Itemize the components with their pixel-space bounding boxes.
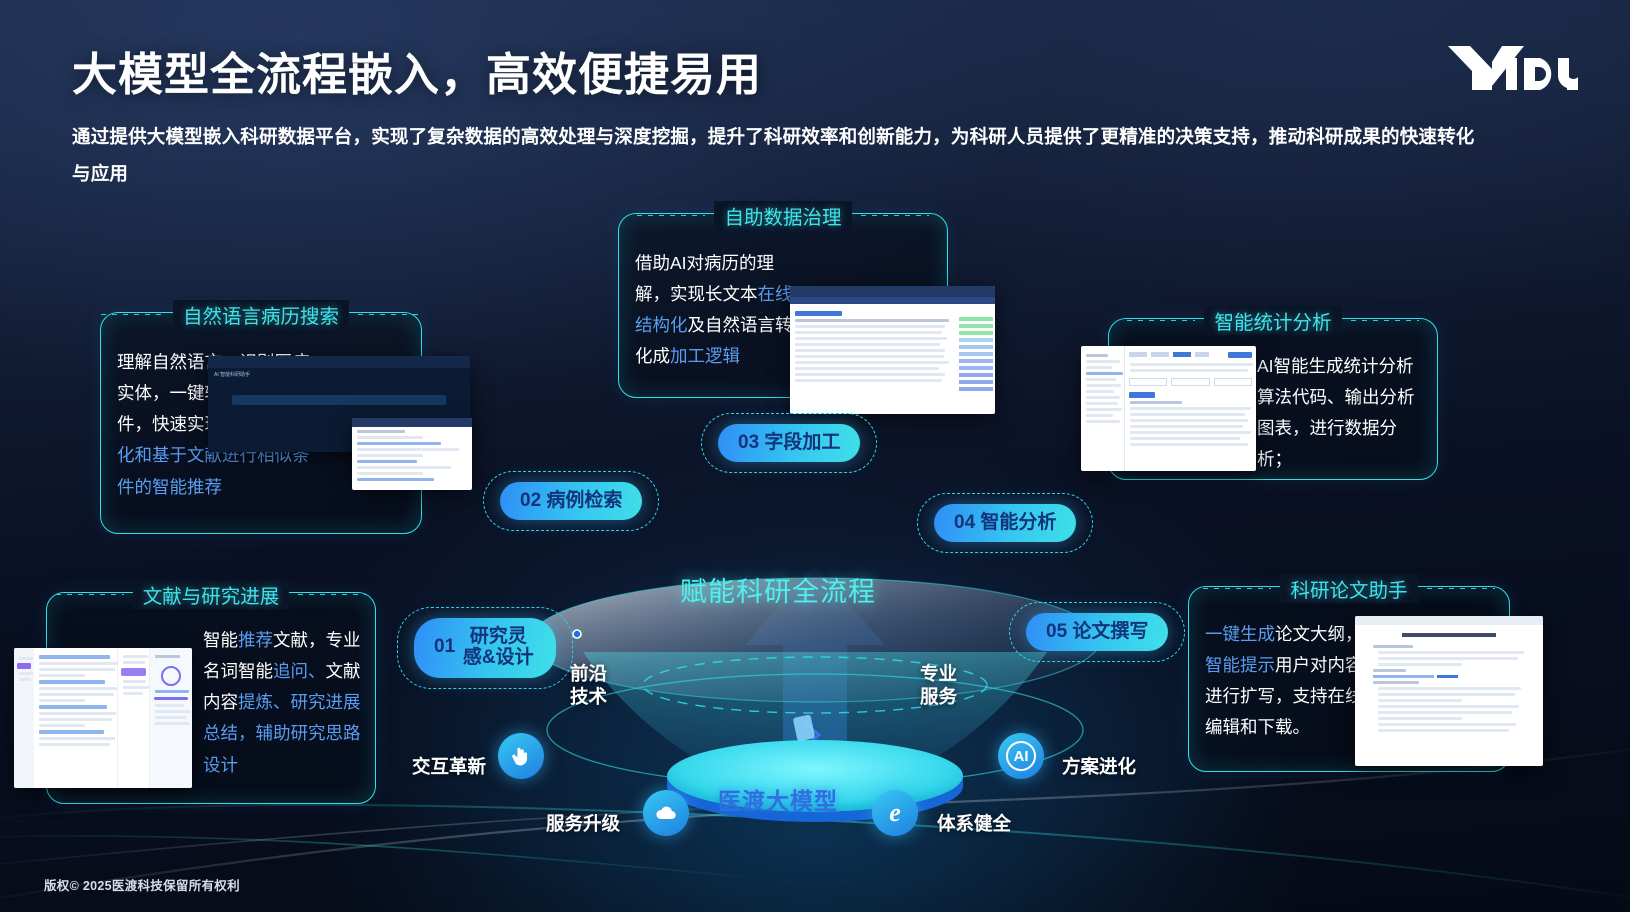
- page-title: 大模型全流程嵌入，高效便捷易用: [72, 38, 762, 103]
- card-data-governance-title-row: 自助数据治理: [619, 201, 947, 230]
- card-nl-search-title-row: 自然语言病历搜索: [101, 300, 421, 329]
- dash-left: [1127, 320, 1195, 321]
- cloud-icon: [643, 790, 689, 836]
- page-subtitle: 通过提供大模型嵌入科研数据平台，实现了复杂数据的高效处理与深度挖掘，提升了科研效…: [72, 118, 1492, 192]
- yidu-logo-icon: [1446, 42, 1578, 94]
- text-highlight-2: 追问、: [273, 661, 326, 681]
- card-nl-search-title: 自然语言病历搜索: [173, 300, 349, 329]
- step-pill-01-wrap: 01 研究灵感&设计: [414, 618, 556, 678]
- text-plain-1: 论文大纲，: [1275, 624, 1363, 644]
- card-literature-title-row: 文献与研究进展: [47, 580, 375, 609]
- dash-right: [1351, 320, 1419, 321]
- orbit-label-service-upgrade: 服务升级: [546, 812, 620, 835]
- screenshot-caption: AI 智能科研助手: [208, 368, 470, 381]
- pillar-service: 专业 服务: [920, 662, 957, 708]
- orbit-label-system-integrity: 体系健全: [937, 812, 1011, 835]
- browser-e-icon: e: [872, 790, 918, 836]
- funnel-label: 赋能科研全流程: [680, 570, 876, 609]
- screenshot-literature: [14, 648, 192, 788]
- step-num: 05: [1046, 622, 1067, 642]
- step-num: 04: [954, 513, 975, 533]
- step-label: 论文撰写: [1072, 622, 1148, 642]
- card-data-governance-body: 借助AI对病历的理解，实现长文本在线结构化及自然语言转化成加工逻辑: [635, 248, 803, 373]
- dash-right: [1427, 588, 1495, 589]
- browser-e-icon-text: e: [889, 798, 901, 828]
- text-highlight-1: 推荐: [238, 630, 273, 650]
- orbit-label-interaction: 交互革新: [412, 755, 486, 778]
- orbit-label-solution-evolution: 方案进化: [1062, 755, 1136, 778]
- step-label: 字段加工: [764, 433, 840, 453]
- screenshot-stat-analysis: [1081, 346, 1256, 471]
- yidu-logo: [1446, 40, 1578, 96]
- step-label: 研究灵感&设计: [460, 627, 536, 669]
- step-pill-05-wrap: 05 论文撰写: [1026, 613, 1168, 651]
- step-pill-04-wrap: 04 智能分析: [934, 504, 1076, 542]
- dash-left: [637, 215, 705, 216]
- dash-right: [298, 594, 366, 595]
- card-data-governance-title: 自助数据治理: [714, 201, 851, 230]
- screenshot-data-governance: [790, 286, 995, 414]
- step-num: 03: [738, 433, 759, 453]
- card-paper-assistant-body: 一键生成论文大纲，智能提示用户对内容进行扩写，支持在线编辑和下载。: [1205, 619, 1377, 744]
- card-paper-assistant-title-row: 科研论文助手: [1189, 574, 1509, 603]
- text-highlight-2: 智能提示: [1205, 655, 1275, 675]
- screenshot-nl-search-panel: [352, 418, 472, 490]
- hand-icon-glyph: [509, 744, 533, 768]
- card-paper-assistant-title: 科研论文助手: [1280, 574, 1417, 603]
- step-pill-02[interactable]: 02 病例检索: [500, 482, 642, 520]
- dash-left: [1203, 588, 1271, 589]
- text-highlight-2: 加工逻辑: [670, 346, 740, 366]
- dash-left: [56, 594, 124, 595]
- dash-right: [358, 314, 421, 315]
- step-pill-01[interactable]: 01 研究灵感&设计: [414, 618, 556, 678]
- step-num: 01: [434, 637, 455, 658]
- text-plain-1: 借助AI对病历的理解，实现长文本: [635, 253, 774, 304]
- step-pill-02-wrap: 02 病例检索: [500, 482, 642, 520]
- step-label: 智能分析: [980, 513, 1056, 533]
- footer-copyright: 版权© 2025医渡科技保留所有权利: [44, 875, 240, 894]
- text-highlight-1: 一键生成: [1205, 624, 1275, 644]
- cloud-icon-glyph: [654, 801, 678, 825]
- text-plain-1: 智能: [203, 630, 238, 650]
- step-pill-05[interactable]: 05 论文撰写: [1026, 613, 1168, 651]
- card-stat-analysis-body: AI智能生成统计分析算法代码、输出分析图表，进行数据分析；: [1257, 351, 1427, 476]
- step-pill-03[interactable]: 03 字段加工: [718, 424, 860, 462]
- dash-left: [101, 314, 164, 315]
- step-pill-03-wrap: 03 字段加工: [718, 424, 860, 462]
- step-label: 病例检索: [546, 491, 622, 511]
- ai-icon: AI: [998, 733, 1044, 779]
- hand-icon: [498, 733, 544, 779]
- dash-right: [861, 215, 929, 216]
- card-literature-title: 文献与研究进展: [133, 580, 290, 609]
- ai-icon-text: AI: [1006, 741, 1036, 771]
- card-stat-analysis-title-row: 智能统计分析: [1109, 306, 1437, 335]
- slide-canvas: 大模型全流程嵌入，高效便捷易用 通过提供大模型嵌入科研数据平台，实现了复杂数据的…: [0, 0, 1630, 912]
- card-literature-body: 智能推荐文献，专业名词智能追问、文献内容提炼、研究进展总结，辅助研究思路设计: [203, 625, 369, 781]
- step-pill-04[interactable]: 04 智能分析: [934, 504, 1076, 542]
- card-stat-analysis-title: 智能统计分析: [1204, 306, 1341, 335]
- pillar-frontier: 前沿 技术: [570, 662, 607, 708]
- model-label: 医渡大模型: [718, 782, 838, 816]
- screenshot-paper-assistant: [1355, 616, 1543, 766]
- step-num: 02: [520, 491, 541, 511]
